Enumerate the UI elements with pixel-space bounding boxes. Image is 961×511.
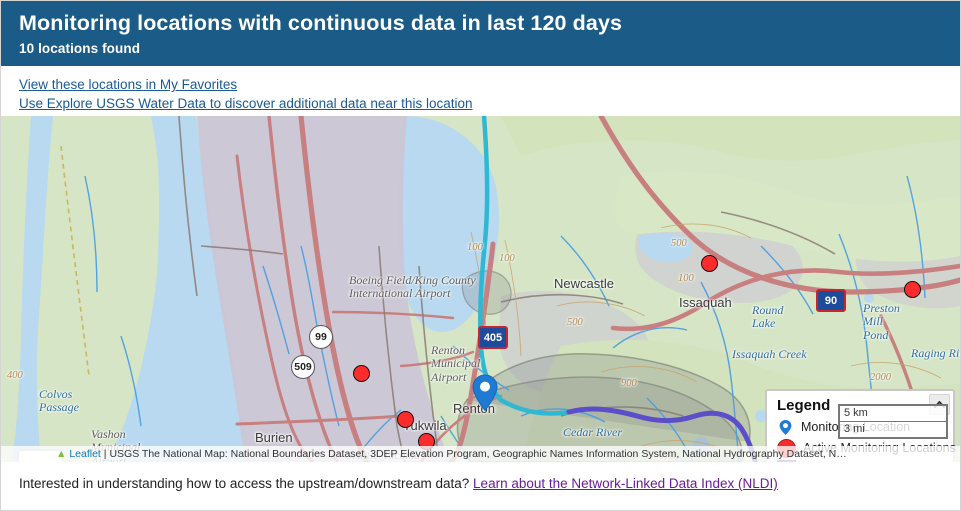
active-monitoring-location-marker[interactable] bbox=[397, 411, 414, 428]
active-monitoring-location-marker[interactable] bbox=[904, 281, 921, 298]
monitoring-locations-panel: Monitoring locations with continuous dat… bbox=[0, 0, 961, 511]
map-pin-icon bbox=[777, 419, 794, 436]
map-scale-bar: 5 km 3 mi bbox=[838, 404, 948, 439]
monitoring-location-pin-marker[interactable] bbox=[471, 374, 499, 412]
panel-header: Monitoring locations with continuous dat… bbox=[1, 1, 960, 66]
quick-links: View these locations in My Favorites Use… bbox=[1, 66, 960, 116]
active-monitoring-location-marker[interactable] bbox=[353, 365, 370, 382]
route-shield: 99 bbox=[309, 325, 333, 349]
attribution-separator: | bbox=[104, 448, 107, 460]
leaflet-label: Leaflet bbox=[69, 448, 101, 460]
locations-found-count: 10 locations found bbox=[19, 41, 960, 56]
attribution-text: USGS The National Map: National Boundari… bbox=[109, 448, 846, 460]
leaflet-map[interactable]: Boeing Field/King County International A… bbox=[1, 116, 960, 462]
map-pin-icon bbox=[471, 374, 499, 412]
route-shield: 90 bbox=[816, 289, 846, 312]
panel-footer: Interested in understanding how to acces… bbox=[1, 462, 960, 509]
link-my-favorites[interactable]: View these locations in My Favorites bbox=[19, 75, 237, 94]
link-nldi[interactable]: Learn about the Network-Linked Data Inde… bbox=[473, 476, 778, 491]
leaflet-link[interactable]: ▲ Leaflet bbox=[56, 448, 101, 460]
footer-question: Interested in understanding how to acces… bbox=[19, 476, 469, 491]
page-title: Monitoring locations with continuous dat… bbox=[19, 10, 960, 37]
route-shield: 405 bbox=[478, 326, 508, 349]
scale-imperial: 3 mi bbox=[838, 422, 948, 439]
map-attribution: ▲ Leaflet | USGS The National Map: Natio… bbox=[1, 446, 960, 462]
route-shield: 509 bbox=[291, 355, 315, 379]
active-monitoring-location-marker[interactable] bbox=[701, 255, 718, 272]
link-explore-usgs-water-data[interactable]: Use Explore USGS Water Data to discover … bbox=[19, 94, 472, 113]
scale-metric: 5 km bbox=[838, 404, 948, 422]
